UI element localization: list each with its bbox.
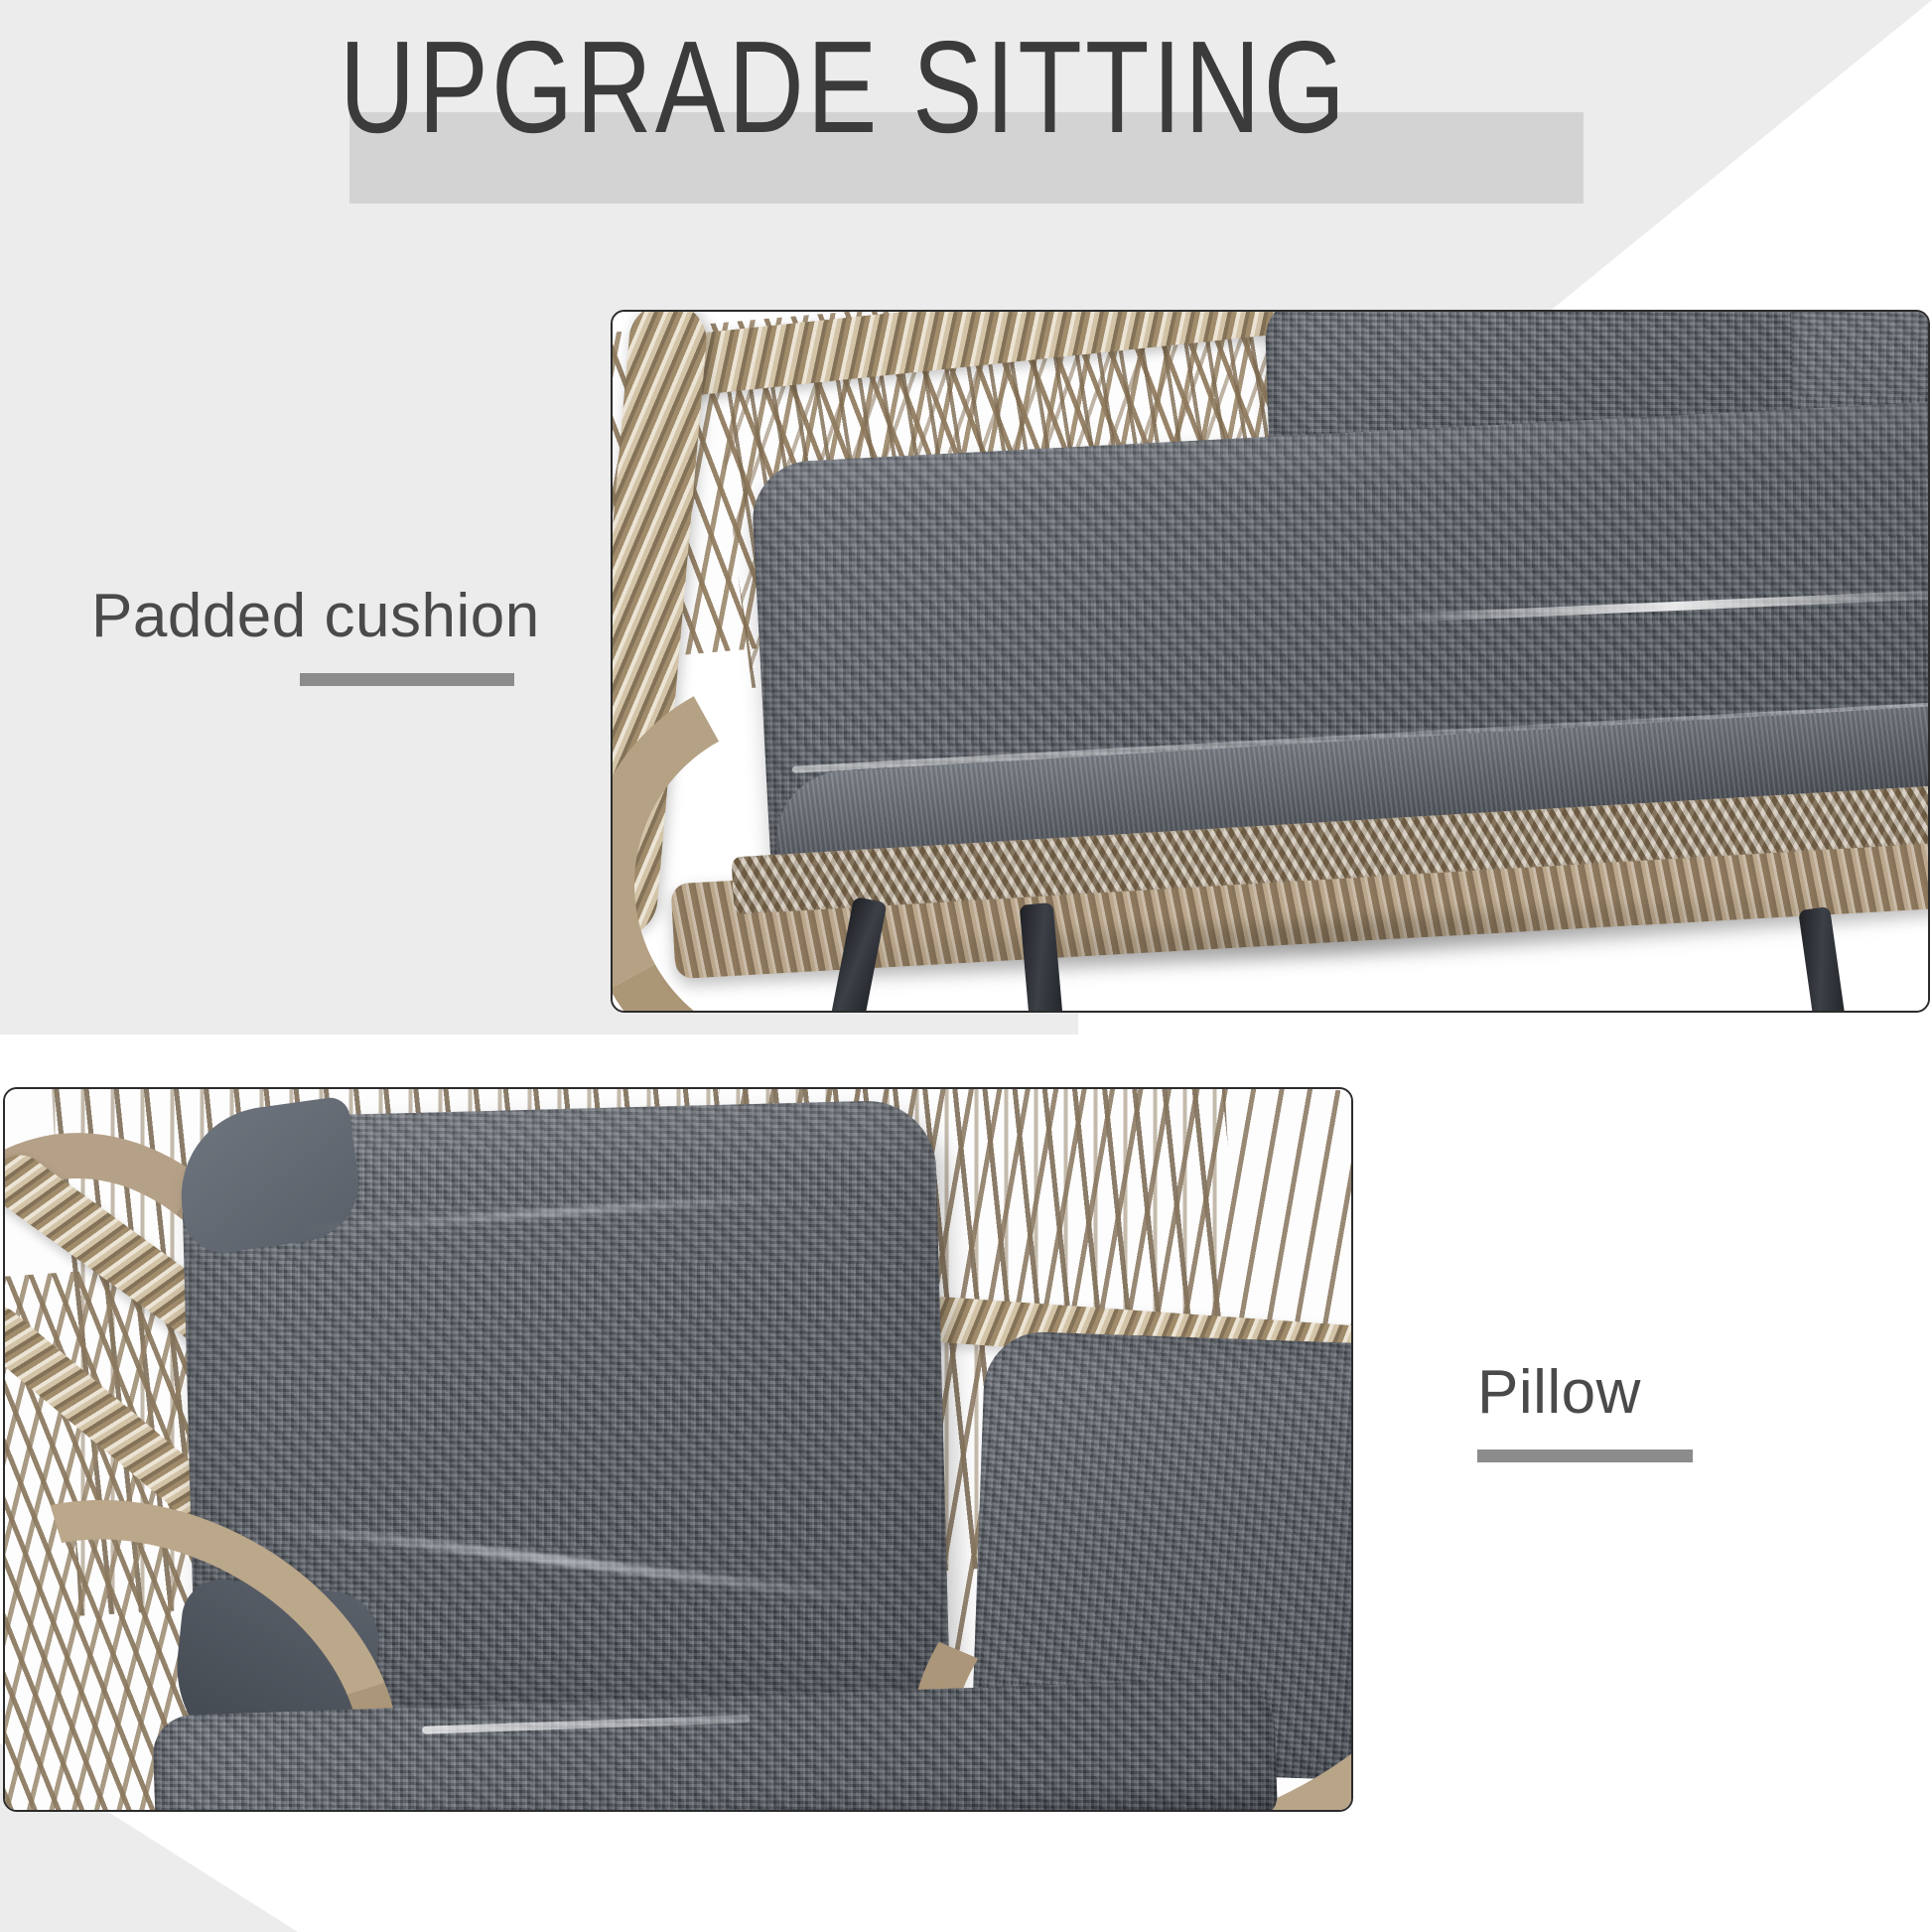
- callout-pillow-label: Pillow: [1477, 1362, 1696, 1424]
- pillow-photo-image: [5, 1089, 1351, 1810]
- callout-padded-cushion-rule: [300, 673, 514, 686]
- cushion-photo-image: [613, 312, 1928, 1011]
- callout-padded-cushion: Padded cushion: [91, 586, 514, 686]
- callout-padded-cushion-label: Padded cushion: [91, 586, 514, 647]
- pillow-photo-panel: [3, 1087, 1353, 1812]
- page-title: UPGRADE SITTING: [169, 22, 1519, 153]
- callout-pillow: Pillow: [1477, 1362, 1696, 1462]
- callout-pillow-rule: [1477, 1449, 1693, 1462]
- cushion-photo-panel: [611, 310, 1930, 1013]
- infographic-page: UPGRADE SITTING Padded cushion Pillow: [0, 0, 1932, 1932]
